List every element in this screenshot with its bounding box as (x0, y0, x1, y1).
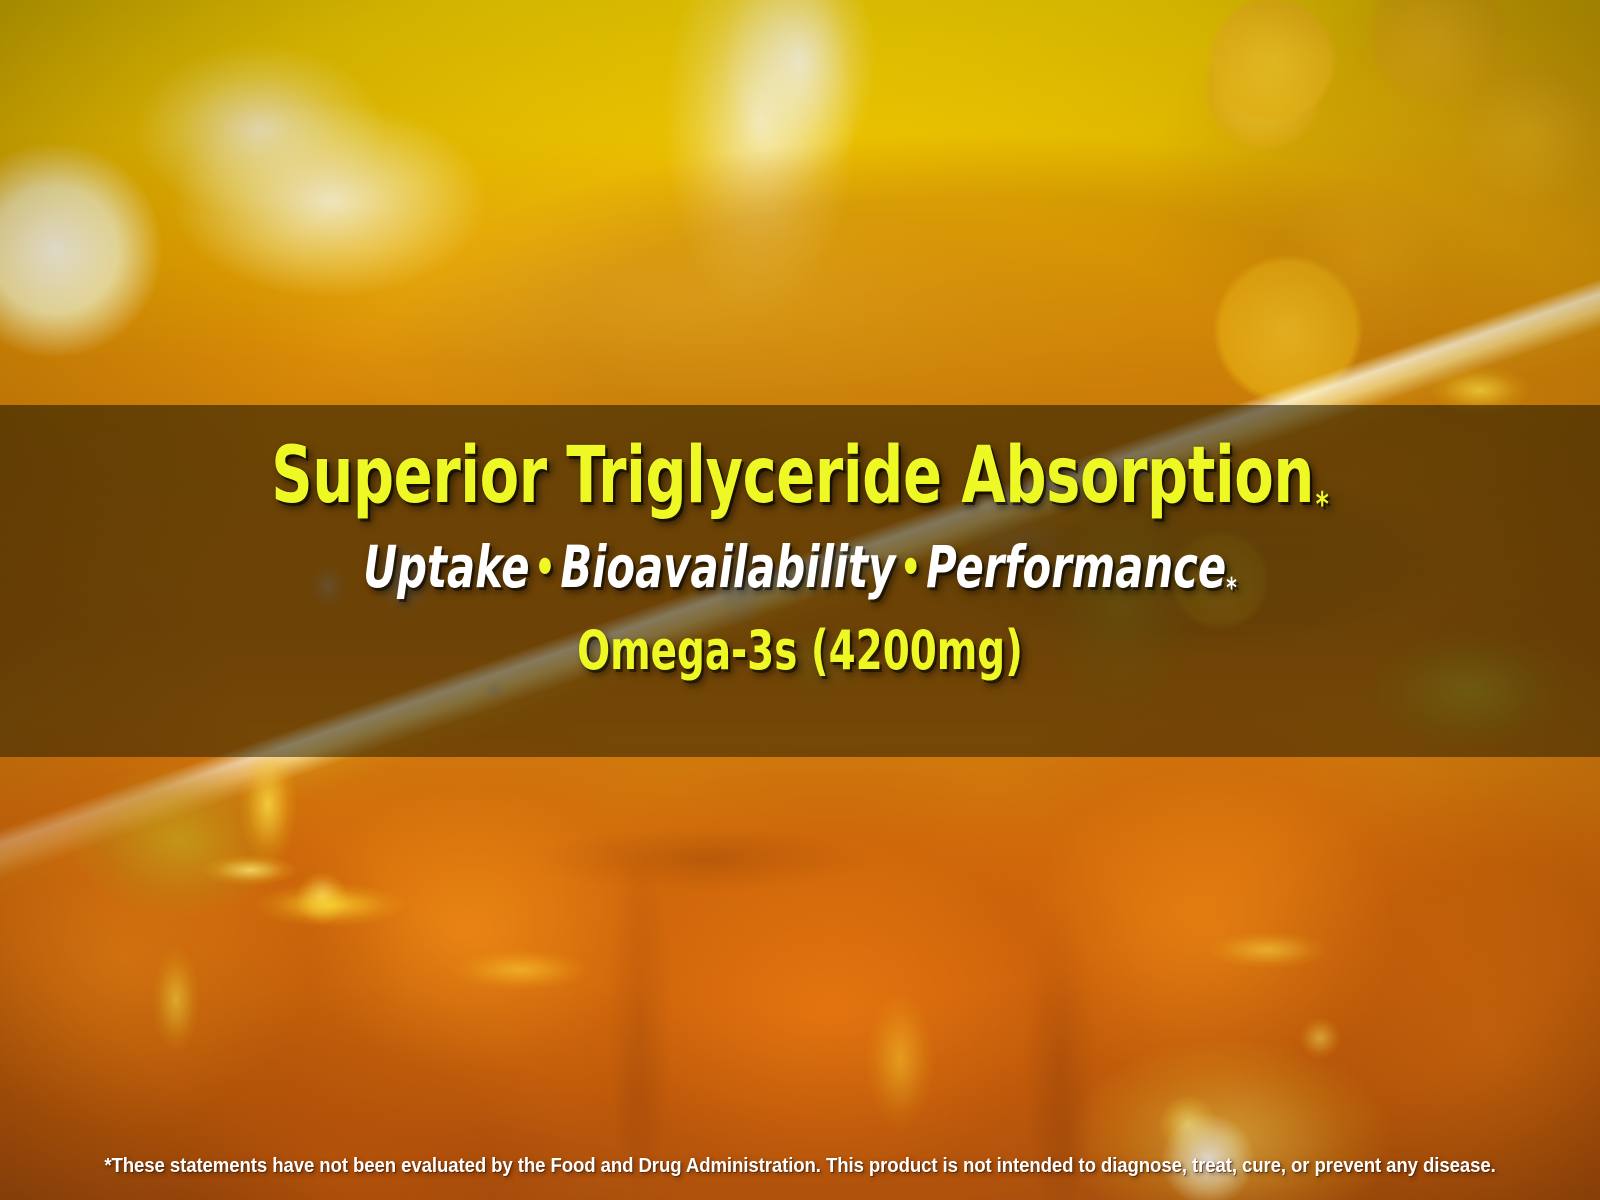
page-title: Superior Triglyceride Absorption* (144, 405, 1456, 522)
headline-text: Superior Triglyceride Absorption (271, 431, 1314, 521)
hero-copy-block: Superior Triglyceride Absorption* Uptake… (0, 405, 1600, 757)
subheadline-footnote-marker: * (1226, 571, 1237, 604)
benefit-performance: Performance (926, 533, 1226, 601)
bullet-separator-icon: • (530, 540, 561, 594)
headline-footnote-marker: * (1316, 485, 1329, 525)
benefits-subheadline: Uptake•Bioavailability•Performance* (160, 522, 1440, 602)
benefit-uptake: Uptake (363, 533, 529, 601)
bullet-separator-icon: • (895, 540, 926, 594)
dosage-label: Omega-3s (4200mg) (160, 602, 1440, 678)
fda-disclaimer: *These statements have not been evaluate… (56, 1155, 1544, 1178)
product-hero-banner: Superior Triglyceride Absorption* Uptake… (0, 0, 1600, 1200)
benefit-bioavailability: Bioavailability (560, 533, 895, 601)
